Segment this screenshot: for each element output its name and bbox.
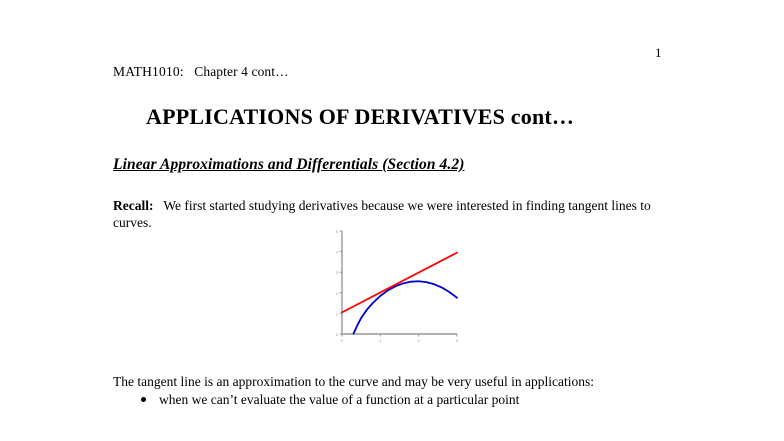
course-chapter: Chapter 4 cont… xyxy=(194,64,288,79)
page-title: APPLICATIONS OF DERIVATIVES cont… xyxy=(146,104,574,130)
closing-text: The tangent line is an approximation to … xyxy=(113,373,693,390)
recall-label: Recall: xyxy=(113,198,153,213)
y-tick-label: 0 xyxy=(336,332,339,337)
course-header: MATH1010: Chapter 4 cont… xyxy=(113,64,289,80)
x-tick-label: 0 xyxy=(341,338,344,343)
bullet-dot-icon xyxy=(141,397,146,402)
y-tick-label: 3 xyxy=(336,270,339,275)
x-tick-label: 1 xyxy=(379,338,382,343)
page-number: 1 xyxy=(655,46,662,59)
applications-bullet-list: when we can’t evaluate the value of a fu… xyxy=(113,390,693,409)
series-curve xyxy=(354,281,458,333)
section-heading: Linear Approximations and Differentials … xyxy=(113,156,465,174)
y-tick-label: 5 xyxy=(336,229,339,234)
list-item-label: when we can’t evaluate the value of a fu… xyxy=(159,392,519,407)
tangent-line-chart: 0123450123 xyxy=(331,226,461,346)
series-tangent-line xyxy=(342,253,457,313)
course-code: MATH1010: xyxy=(113,64,184,79)
y-tick-label: 4 xyxy=(336,250,339,255)
slide-page: 1 MATH1010: Chapter 4 cont… APPLICATIONS… xyxy=(0,0,784,441)
y-tick-label: 2 xyxy=(336,291,339,296)
y-tick-label: 1 xyxy=(336,311,339,316)
list-item: when we can’t evaluate the value of a fu… xyxy=(113,390,693,409)
chart-svg: 0123450123 xyxy=(331,226,461,346)
closing-paragraph: The tangent line is an approximation to … xyxy=(113,373,693,409)
x-tick-label: 2 xyxy=(418,338,421,343)
x-tick-label: 3 xyxy=(456,338,459,343)
